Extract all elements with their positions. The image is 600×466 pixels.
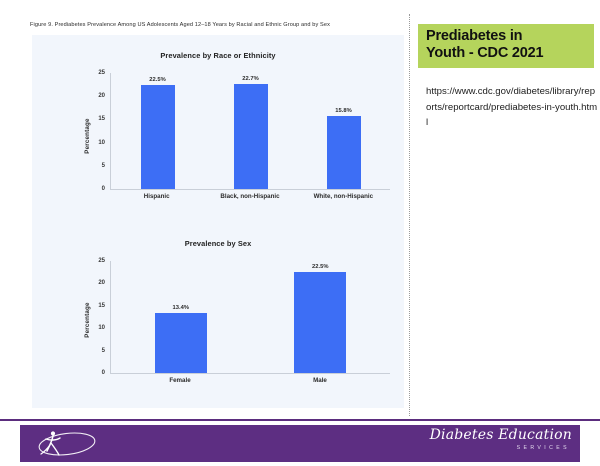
footer-bar: Diabetes Education SERVICES [20,425,580,462]
y-tick: 20 [98,93,105,99]
chart-race-ethnicity: Prevalence by Race or Ethnicity Percenta… [32,43,404,229]
bar-item: 22.5% [251,261,391,373]
plot-area-1: 25 20 15 10 5 0 22.5% 22.7% [110,73,390,190]
brand-subtitle: SERVICES [422,445,572,451]
x-tick-label: Hispanic [110,193,203,200]
page-title-line1: Prediabetes in [426,28,588,45]
figure-caption: Figure 9. Prediabetes Prevalence Among U… [30,22,402,29]
source-url-link[interactable]: https://www.cdc.gov/diabetes/library/rep… [426,84,598,131]
y-tick: 0 [102,186,105,192]
column-divider [409,14,410,416]
bar-value-label: 22.5% [312,264,328,270]
chart-panel: Prevalence by Race or Ethnicity Percenta… [32,35,404,408]
slide-title-banner: Prediabetes in Youth - CDC 2021 [418,24,594,68]
y-axis-label: Percentage [84,118,91,153]
bar-series-1: 22.5% 22.7% 15.8% [111,73,390,189]
right-column: Prediabetes in Youth - CDC 2021 https://… [418,0,600,416]
y-tick: 25 [98,258,105,264]
bar-item: 22.7% [204,73,297,189]
bar-item: 22.5% [111,73,204,189]
bar [141,85,175,189]
x-axis-labels-1: Hispanic Black, non-Hispanic White, non-… [110,193,390,200]
y-tick: 5 [102,348,105,354]
y-tick: 10 [98,325,105,331]
bar-value-label: 22.5% [149,77,165,83]
bar [294,272,346,373]
x-tick-label: Black, non-Hispanic [203,193,296,200]
page-title-line2: Youth - CDC 2021 [426,45,588,62]
y-tick: 10 [98,140,105,146]
y-tick: 15 [98,303,105,309]
x-tick-label: Female [110,377,250,384]
y-tick: 0 [102,370,105,376]
bar [155,313,207,373]
bar-value-label: 15.8% [335,108,351,114]
figure-swoosh-logo-icon [30,427,100,460]
y-tick: 5 [102,163,105,169]
chart-title: Prevalence by Sex [32,239,404,248]
chart-title: Prevalence by Race or Ethnicity [32,51,404,60]
y-tick: 20 [98,280,105,286]
bar-value-label: 13.4% [173,305,189,311]
plot-area-2: 25 20 15 10 5 0 13.4% 22.5% [110,261,390,374]
chart-sex: Prevalence by Sex Percentage 25 20 15 10… [32,231,404,408]
figure-region: Figure 9. Prediabetes Prevalence Among U… [0,0,409,416]
bar-value-label: 22.7% [242,76,258,82]
bar-item: 13.4% [111,261,251,373]
brand-name: Diabetes Education [422,428,572,442]
y-axis-label: Percentage [84,302,91,337]
slide-canvas: Figure 9. Prediabetes Prevalence Among U… [0,0,600,466]
footer-rule [0,419,600,421]
brand-lockup: Diabetes Education SERVICES [422,428,572,459]
x-tick-label: Male [250,377,390,384]
bar-item: 15.8% [297,73,390,189]
x-axis-labels-2: Female Male [110,377,390,384]
y-tick: 25 [98,70,105,76]
bar [327,116,361,189]
y-tick: 15 [98,116,105,122]
bar [234,84,268,189]
bar-series-2: 13.4% 22.5% [111,261,390,373]
x-tick-label: White, non-Hispanic [297,193,390,200]
